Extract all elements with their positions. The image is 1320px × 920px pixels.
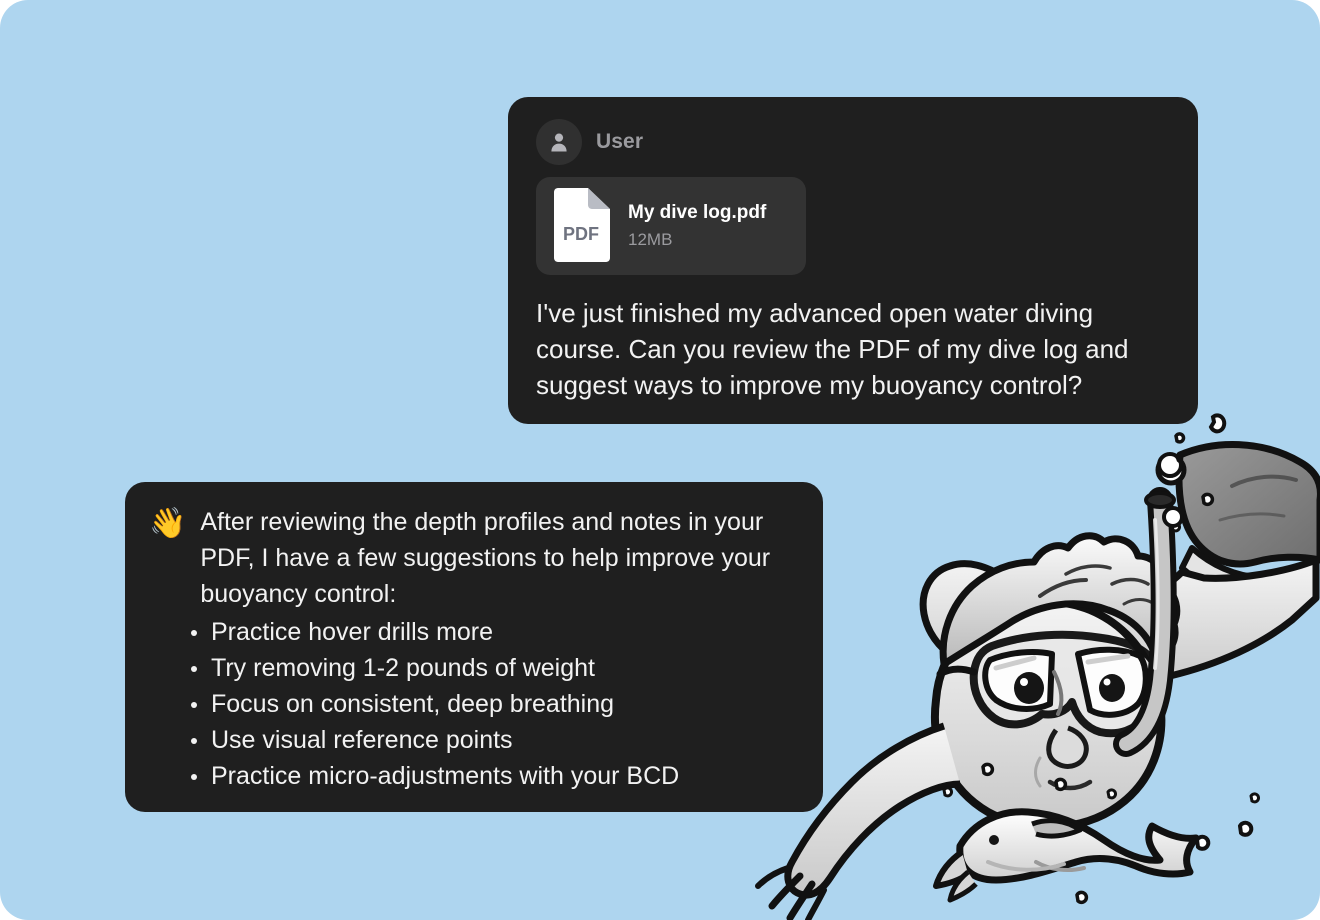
snorkeler-figure <box>758 445 1320 920</box>
assistant-message-bubble: 👋 After reviewing the depth profiles and… <box>125 482 823 812</box>
suggestion-list: Practice hover drills more Try removing … <box>149 614 797 794</box>
list-item: Use visual reference points <box>185 722 797 758</box>
user-message-text: I've just finished my advanced open wate… <box>536 295 1170 403</box>
assistant-intro-text: After reviewing the depth profiles and n… <box>200 504 797 612</box>
attachment-filesize: 12MB <box>628 230 766 250</box>
attachment-meta: My dive log.pdf 12MB <box>628 202 766 250</box>
assistant-intro-row: 👋 After reviewing the depth profiles and… <box>149 504 797 612</box>
message-author: User <box>596 130 643 154</box>
user-message-bubble: User PDF My dive log.pdf 12MB I've just … <box>508 97 1198 424</box>
message-header: User <box>536 119 1170 165</box>
pdf-icon-label: PDF <box>563 224 599 244</box>
pdf-file-icon: PDF <box>548 188 610 264</box>
attachment-card[interactable]: PDF My dive log.pdf 12MB <box>536 177 806 275</box>
fish <box>936 812 1196 900</box>
attachment-filename: My dive log.pdf <box>628 202 766 224</box>
list-item: Try removing 1-2 pounds of weight <box>185 650 797 686</box>
person-icon <box>547 130 571 154</box>
diving-mask <box>940 635 1157 733</box>
list-item: Practice hover drills more <box>185 614 797 650</box>
waving-hand-emoji: 👋 <box>149 504 186 542</box>
avatar <box>536 119 582 165</box>
list-item: Focus on consistent, deep breathing <box>185 686 797 722</box>
snorkel-tube <box>1126 493 1174 744</box>
page-root: User PDF My dive log.pdf 12MB I've just … <box>0 0 1320 920</box>
list-item: Practice micro-adjustments with your BCD <box>185 758 797 794</box>
bubbles <box>944 390 1259 902</box>
